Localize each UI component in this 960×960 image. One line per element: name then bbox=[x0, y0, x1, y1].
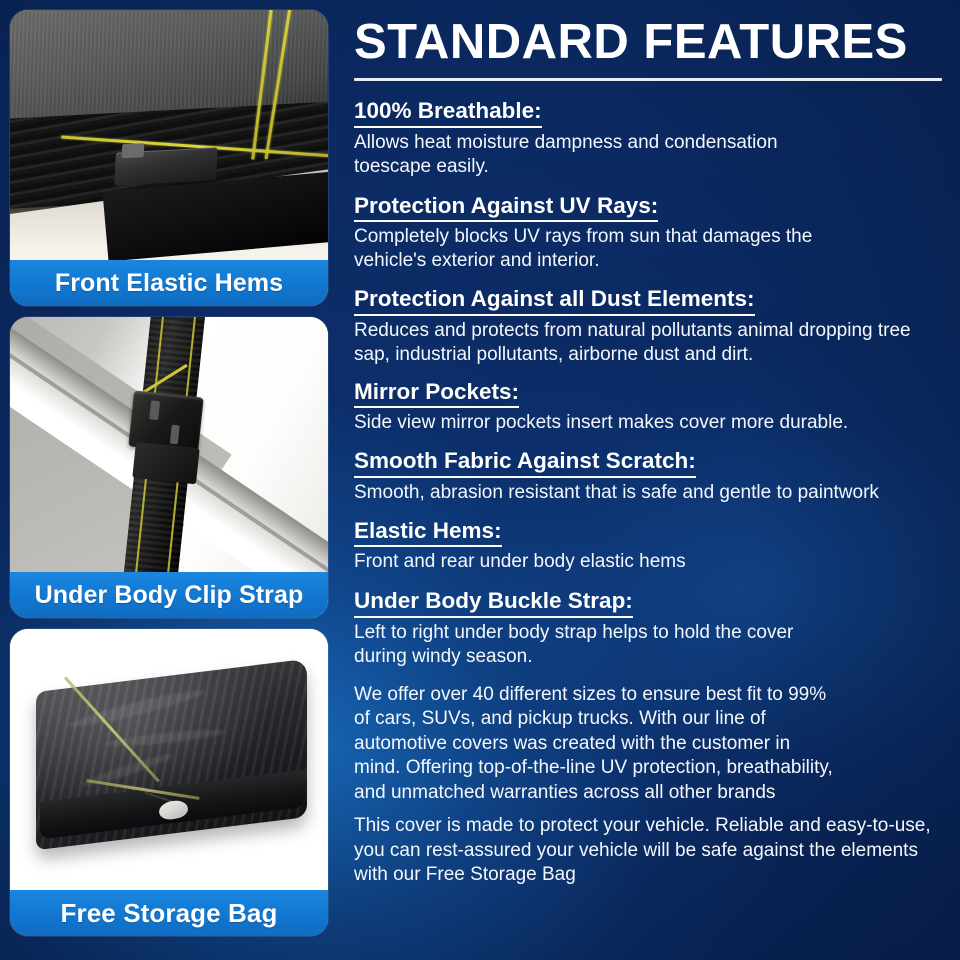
feature-heading: Protection Against UV Rays: bbox=[354, 193, 658, 223]
photo-under-body-clip-strap bbox=[10, 317, 328, 572]
product-panel-free-storage-bag: Free Storage Bag bbox=[10, 629, 328, 936]
feature-under-body-buckle-strap: Under Body Buckle Strap: Left to right u… bbox=[354, 588, 946, 669]
feature-heading: Mirror Pockets: bbox=[354, 379, 519, 409]
feature-smooth-fabric: Smooth Fabric Against Scratch: Smooth, a… bbox=[354, 448, 946, 505]
feature-elastic-hems: Elastic Hems: Front and rear under body … bbox=[354, 518, 946, 575]
feature-body: Front and rear under body elastic hems bbox=[354, 550, 946, 574]
feature-mirror-pockets: Mirror Pockets: Side view mirror pockets… bbox=[354, 379, 946, 436]
product-image-column: Front Elastic Hems Under Body Clip Strap bbox=[0, 0, 338, 960]
feature-heading: Elastic Hems: bbox=[354, 518, 502, 548]
product-panel-front-elastic-hems: Front Elastic Hems bbox=[10, 10, 328, 306]
photo-front-elastic-hems bbox=[10, 10, 328, 260]
paragraph-sizes: We offer over 40 different sizes to ensu… bbox=[354, 683, 834, 806]
feature-body: Reduces and protects from natural pollut… bbox=[354, 319, 946, 367]
feature-body: Left to right under body strap helps to … bbox=[354, 621, 824, 669]
features-column: STANDARD FEATURES 100% Breathable: Allow… bbox=[338, 0, 960, 960]
content-layout: Front Elastic Hems Under Body Clip Strap bbox=[0, 0, 960, 960]
feature-dust-protection: Protection Against all Dust Elements: Re… bbox=[354, 286, 946, 367]
feature-uv-protection: Protection Against UV Rays: Completely b… bbox=[354, 193, 946, 274]
feature-body: Allows heat moisture dampness and conden… bbox=[354, 131, 824, 179]
panel-caption-free-storage-bag: Free Storage Bag bbox=[10, 890, 328, 936]
photo-free-storage-bag bbox=[10, 629, 328, 890]
feature-heading: 100% Breathable: bbox=[354, 98, 542, 128]
feature-heading: Under Body Buckle Strap: bbox=[354, 588, 633, 618]
photo-2-buckle-lower-bar bbox=[132, 441, 199, 483]
features-list: 100% Breathable: Allows heat moisture da… bbox=[348, 98, 946, 888]
feature-body: Side view mirror pockets insert makes co… bbox=[354, 411, 946, 435]
feature-body: Smooth, abrasion resistant that is safe … bbox=[354, 481, 946, 505]
feature-heading: Smooth Fabric Against Scratch: bbox=[354, 448, 696, 478]
paragraph-closing: This cover is made to protect your vehic… bbox=[354, 814, 946, 888]
page-title: STANDARD FEATURES bbox=[348, 18, 946, 67]
title-underline bbox=[354, 78, 942, 81]
panel-caption-under-body-clip-strap: Under Body Clip Strap bbox=[10, 572, 328, 618]
feature-breathable: 100% Breathable: Allows heat moisture da… bbox=[354, 98, 946, 179]
photo-1-plastic-clip bbox=[114, 147, 217, 185]
infographic-root: Front Elastic Hems Under Body Clip Strap bbox=[0, 0, 960, 960]
product-panel-under-body-clip-strap: Under Body Clip Strap bbox=[10, 317, 328, 618]
panel-caption-front-elastic-hems: Front Elastic Hems bbox=[10, 260, 328, 306]
feature-heading: Protection Against all Dust Elements: bbox=[354, 286, 755, 316]
feature-body: Completely blocks UV rays from sun that … bbox=[354, 225, 824, 273]
